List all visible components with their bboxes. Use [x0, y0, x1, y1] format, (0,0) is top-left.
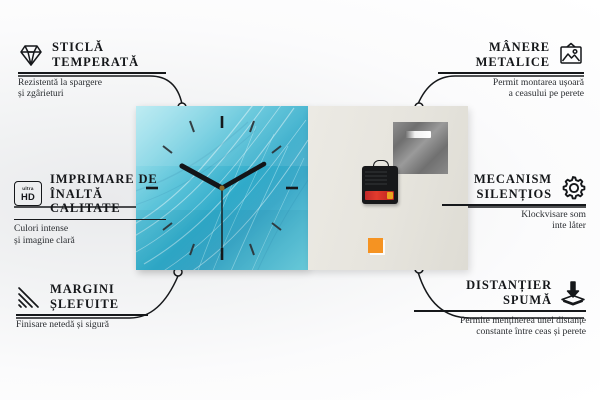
battery-terminal	[387, 192, 393, 199]
foam-spacer-pad	[368, 238, 383, 253]
hd-icon-hd-text: HD	[21, 192, 35, 201]
feature-title: DISTANȚIER SPUMĂ	[466, 278, 552, 307]
diamond-icon	[18, 42, 44, 68]
movement-vents	[365, 170, 387, 187]
feature-foam-spacer: DISTANȚIER SPUMĂ Permite menținerea unei…	[414, 278, 586, 338]
divider-rule	[14, 219, 166, 221]
feature-tempered-glass: STICLĂ TEMPERATĂ Rezistentă la spargere …	[18, 40, 166, 100]
feature-subtitle: Culori intense și imagine clară	[14, 223, 166, 246]
feature-title: STICLĂ TEMPERATĂ	[52, 40, 139, 69]
feature-polished-edges: MARGINI ȘLEFUITE Finisare netedă și sigu…	[16, 282, 148, 330]
divider-rule	[414, 310, 586, 312]
metal-hanger-plate	[393, 122, 448, 174]
hanging-loop	[373, 160, 389, 170]
infographic-canvas: STICLĂ TEMPERATĂ Rezistentă la spargere …	[0, 0, 600, 400]
feature-subtitle: Klockvisare som inte låter	[442, 209, 586, 232]
gear-icon	[560, 174, 586, 200]
feature-subtitle: Rezistentă la spargere și zgârieturi	[18, 77, 166, 100]
hanger-slot	[405, 131, 431, 138]
divider-rule	[16, 314, 148, 316]
hatched-edge-icon	[16, 284, 42, 310]
divider-rule	[438, 72, 584, 74]
feature-title: MÂNERE METALICE	[476, 40, 550, 69]
divider-rule	[442, 204, 586, 206]
quartz-movement-box	[362, 166, 398, 204]
feature-title: MARGINI ȘLEFUITE	[50, 282, 119, 311]
feature-silent-mechanism: MECANISM SILENȚIOS Klockvisare som inte …	[442, 172, 586, 232]
feature-title: IMPRIMARE DE ÎNALTĂ CALITATE	[50, 172, 166, 216]
divider-rule	[18, 72, 166, 74]
feature-title: MECANISM SILENȚIOS	[474, 172, 552, 201]
feature-high-quality-print: ultra HD IMPRIMARE DE ÎNALTĂ CALITATE Cu…	[14, 172, 166, 246]
feature-subtitle: Permit montarea ușoară a ceasului pe per…	[438, 77, 584, 100]
feature-metal-handles: MÂNERE METALICE Permit montarea ușoară a…	[438, 40, 584, 100]
press-down-pad-icon	[560, 280, 586, 306]
ultra-hd-icon: ultra HD	[14, 181, 42, 206]
hanging-picture-icon	[558, 42, 584, 68]
feature-subtitle: Finisare netedă și sigură	[16, 319, 148, 331]
battery	[365, 191, 394, 200]
feature-subtitle: Permite menținerea unei distanțe constan…	[414, 315, 586, 338]
